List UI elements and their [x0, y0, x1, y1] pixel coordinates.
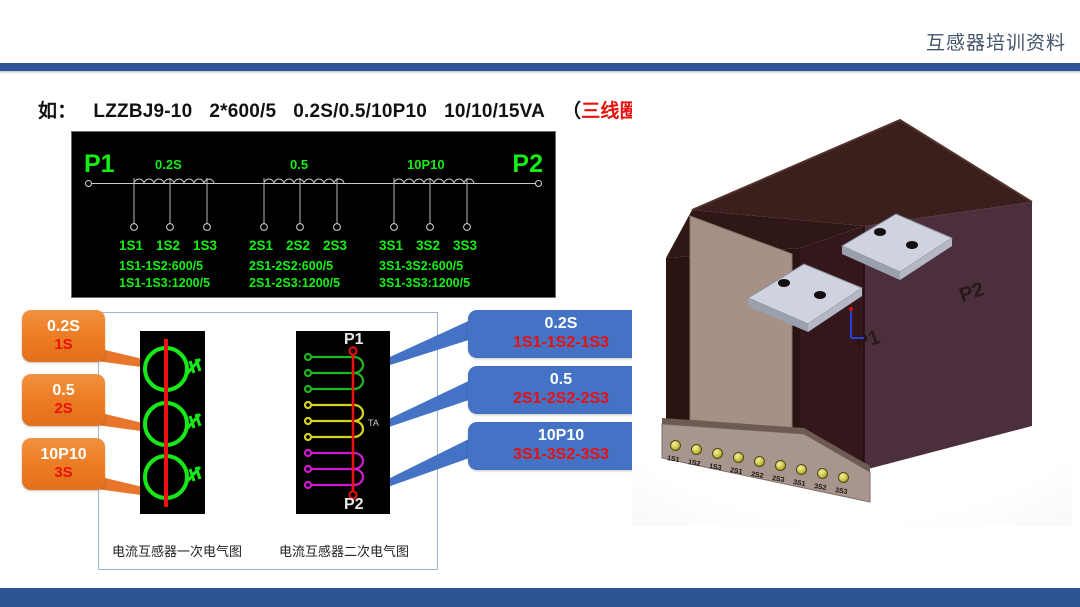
blue-callout-1-class: 0.2S: [545, 316, 578, 333]
header-divider-bar: [0, 63, 1080, 71]
headline-paren-open: （: [562, 101, 581, 122]
tap-label-2s2: 2S2: [286, 239, 310, 253]
tap-label-3s3: 3S3: [453, 239, 477, 253]
orange-callout-1[interactable]: 0.2S 1S: [22, 310, 105, 362]
ratio-2-b: 2S1-2S3:1200/5: [249, 277, 340, 290]
secondary-ta-label: TA: [368, 419, 379, 428]
winding-group-label-1: 0.2S: [155, 158, 182, 171]
terminal-screw-2s1[interactable]: [733, 452, 744, 463]
winding-diagram-panel: P1 P2: [71, 131, 556, 298]
blue-callout-2-taps: 2S1-2S2-2S3: [513, 389, 609, 408]
blue-callout-3[interactable]: 10P10 3S1-3S2-3S3: [468, 422, 654, 470]
tap-label-2s1: 2S1: [249, 239, 273, 253]
footer-bar: [0, 588, 1080, 607]
ratio-1-b: 1S1-1S3:1200/5: [119, 277, 210, 290]
winding-group-label-2: 0.5: [290, 158, 308, 171]
header-divider-shadow: [0, 71, 1080, 74]
ratio-2-a: 2S1-2S2:600/5: [249, 260, 333, 273]
primary-circuit-panel: [140, 331, 205, 514]
tap-label-1s2: 1S2: [156, 239, 180, 253]
orange-callout-1-class: 0.2S: [47, 319, 80, 336]
terminal-screw-1s1[interactable]: [670, 440, 681, 451]
tap-label-2s3: 2S3: [323, 239, 347, 253]
headline-burden: 10/10/15VA: [444, 101, 545, 122]
page-title: 互感器培训资料: [926, 28, 1066, 55]
blue-callout-2-class: 0.5: [550, 372, 572, 389]
blue-callout-1-taps: 1S1-1S2-1S3: [513, 333, 609, 352]
ratio-3-a: 3S1-3S2:600/5: [379, 260, 463, 273]
terminal-screw-3s1[interactable]: [796, 464, 807, 475]
blue-callout-3-taps: 3S1-3S2-3S3: [513, 445, 609, 464]
primary-panel-caption: 电流互感器一次电气图: [112, 541, 242, 560]
headline-model: LZZBJ9-10: [93, 101, 192, 122]
secondary-p1-label: P1: [344, 332, 364, 348]
tap-label-3s2: 3S2: [416, 239, 440, 253]
orange-callout-2-class: 0.5: [52, 383, 74, 400]
terminal-screw-2s3[interactable]: [775, 460, 786, 471]
slide-root: 互感器培训资料 如：LZZBJ9-102*600/50.2S/0.5/10P10…: [0, 0, 1080, 607]
secondary-circuit-panel: P1 P2 TA: [296, 331, 390, 514]
tap-label-1s1: 1S1: [119, 239, 143, 253]
orange-callout-3[interactable]: 10P10 3S: [22, 438, 105, 490]
terminal-screw-3s2[interactable]: [817, 468, 828, 479]
terminal-screw-1s2[interactable]: [691, 444, 702, 455]
terminal-screw-2s2[interactable]: [754, 456, 765, 467]
ratio-3-b: 3S1-3S3:1200/5: [379, 277, 470, 290]
secondary-panel-caption: 电流互感器二次电气图: [279, 541, 409, 560]
blue-callout-3-class: 10P10: [538, 428, 584, 445]
headline-ratio: 2*600/5: [209, 101, 276, 122]
tap-label-3s1: 3S1: [379, 239, 403, 253]
headline-prefix: 如：: [38, 101, 76, 122]
headline-accuracy: 0.2S/0.5/10P10: [293, 101, 427, 122]
winding-group-label-3: 10P10: [407, 158, 445, 171]
terminal-screw-1s3[interactable]: [712, 448, 723, 459]
blue-callout-2[interactable]: 0.5 2S1-2S2-2S3: [468, 366, 654, 414]
terminal-screw-3s3[interactable]: [838, 472, 849, 483]
primary-circuit-graphic: [140, 331, 205, 514]
orange-callout-1-tap: 1S: [54, 336, 72, 353]
secondary-p2-label: P2: [344, 497, 364, 513]
orange-callout-2[interactable]: 0.5 2S: [22, 374, 105, 426]
ratio-1-a: 1S1-1S2:600/5: [119, 260, 203, 273]
tap-label-1s3: 1S3: [193, 239, 217, 253]
orange-callout-3-tap: 3S: [54, 464, 72, 481]
orange-callout-3-class: 10P10: [40, 447, 86, 464]
headline: 如：LZZBJ9-102*600/50.2S/0.5/10P1010/10/15…: [38, 96, 721, 123]
product-3d-image: P1 P2 1S1 1S2 1S3 2S1 2S2 2S3 3S1 3S2 3S…: [632, 98, 1072, 526]
orange-callout-2-tap: 2S: [54, 400, 72, 417]
blue-callout-1[interactable]: 0.2S 1S1-1S2-1S3: [468, 310, 654, 358]
